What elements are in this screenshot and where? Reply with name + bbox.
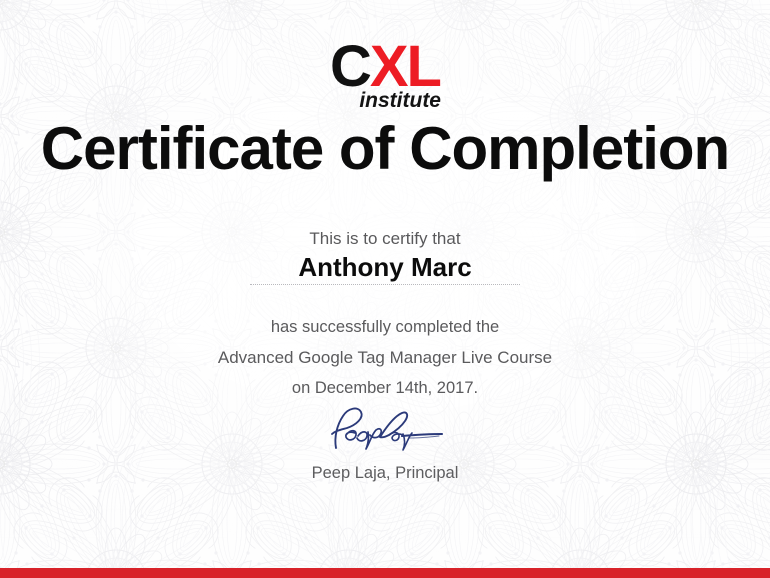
recipient-dotted-rule: [250, 284, 520, 285]
completion-date: on December 14th, 2017.: [0, 380, 770, 397]
signature-block: Peep Laja, Principal: [0, 404, 770, 482]
footer-accent-bar: [0, 568, 770, 578]
certify-intro-text: This is to certify that: [0, 230, 770, 247]
certificate-content: CXL institute Certificate of Completion …: [0, 0, 770, 578]
certificate-document: CXL institute Certificate of Completion …: [0, 0, 770, 578]
course-name: Advanced Google Tag Manager Live Course: [0, 349, 770, 366]
cxl-institute-logo: CXL institute: [0, 38, 770, 96]
logo-wordmark: CXL institute: [330, 38, 440, 96]
recipient-block: Anthony Marc: [0, 253, 770, 283]
completion-text-line1: has successfully completed the: [0, 319, 770, 336]
signatory-name-title: Peep Laja, Principal: [0, 465, 770, 482]
handwritten-signature-icon: [310, 404, 460, 452]
logo-subtitle-institute: institute: [359, 90, 441, 111]
recipient-name: Anthony Marc: [294, 253, 475, 283]
certificate-title: Certificate of Completion: [0, 119, 770, 179]
